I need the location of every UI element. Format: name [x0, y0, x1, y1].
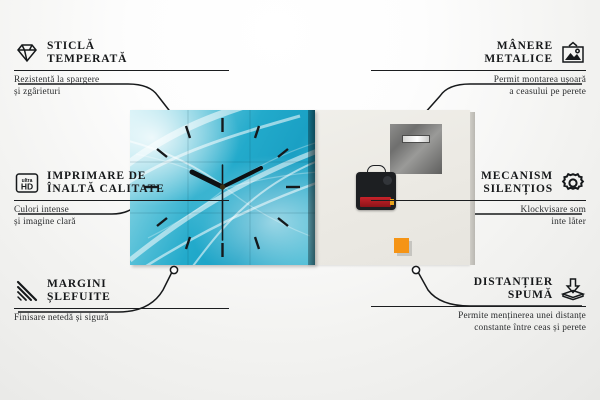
feature-hangers-rule — [371, 70, 586, 71]
feature-hangers: MÂNERE METALICE Permit montarea ușoară a… — [371, 40, 586, 98]
feature-hangers-desc: Permit montarea ușoară a ceasului pe per… — [371, 75, 586, 97]
gear-icon — [560, 171, 586, 195]
hotspot-edges — [170, 266, 177, 273]
feature-spacer-title: DISTANȚIER SPUMĂ — [474, 276, 553, 302]
feature-print: ultra HD IMPRIMARE DE ÎNALTĂ CALITATE Cu… — [14, 170, 229, 228]
feature-mechanism: MECANISM SILENȚIOS Klockvisare som inte … — [371, 170, 586, 228]
foam-spacer-pad — [394, 238, 409, 253]
feature-edges-title: MARGINI ȘLEFUITE — [47, 278, 111, 304]
feature-hangers-head: MÂNERE METALICE — [371, 40, 586, 66]
feature-mechanism-rule — [371, 200, 586, 201]
feature-spacer: DISTANȚIER SPUMĂ Permite menținerea unei… — [371, 276, 586, 334]
feature-mechanism-head: MECANISM SILENȚIOS — [371, 170, 586, 196]
svg-text:HD: HD — [21, 182, 33, 192]
feature-glass-desc: Rezistentă la spargere și zgârieturi — [14, 75, 229, 97]
foam-spacer-icon — [560, 277, 586, 301]
picture-hanger-icon — [560, 41, 586, 65]
feature-hangers-title: MÂNERE METALICE — [484, 40, 553, 66]
ultra-hd-icon: ultra HD — [14, 171, 40, 195]
feature-print-desc: Culori intense și imagine clară — [14, 205, 229, 227]
feature-print-head: ultra HD IMPRIMARE DE ÎNALTĂ CALITATE — [14, 170, 229, 196]
metal-hanger-plate — [390, 124, 442, 174]
feature-mechanism-title: MECANISM SILENȚIOS — [481, 170, 553, 196]
feature-edges-rule — [14, 308, 229, 309]
feature-print-title: IMPRIMARE DE ÎNALTĂ CALITATE — [47, 170, 165, 196]
feature-edges-desc: Finisare netedă și sigură — [14, 313, 229, 324]
diamond-icon — [14, 41, 40, 65]
feature-spacer-rule — [371, 306, 586, 307]
feature-spacer-head: DISTANȚIER SPUMĂ — [371, 276, 586, 302]
hanger-slot — [402, 135, 430, 143]
feature-edges-head: MARGINI ȘLEFUITE — [14, 278, 229, 304]
feature-glass-head: STICLĂ TEMPERATĂ — [14, 40, 229, 66]
hotspot-spacer — [412, 266, 419, 273]
feature-spacer-desc: Permite menținerea unei distanțe constan… — [371, 311, 586, 333]
feature-glass: STICLĂ TEMPERATĂ Rezistentă la spargere … — [14, 40, 229, 98]
feature-glass-title: STICLĂ TEMPERATĂ — [47, 40, 127, 66]
polished-edges-icon — [14, 279, 40, 303]
feature-edges: MARGINI ȘLEFUITE Finisare netedă și sigu… — [14, 278, 229, 325]
feature-print-rule — [14, 200, 229, 201]
feature-mechanism-desc: Klockvisare som inte låter — [371, 205, 586, 227]
infographic-sheet: STICLĂ TEMPERATĂ Rezistentă la spargere … — [0, 0, 600, 400]
feature-glass-rule — [14, 70, 229, 71]
